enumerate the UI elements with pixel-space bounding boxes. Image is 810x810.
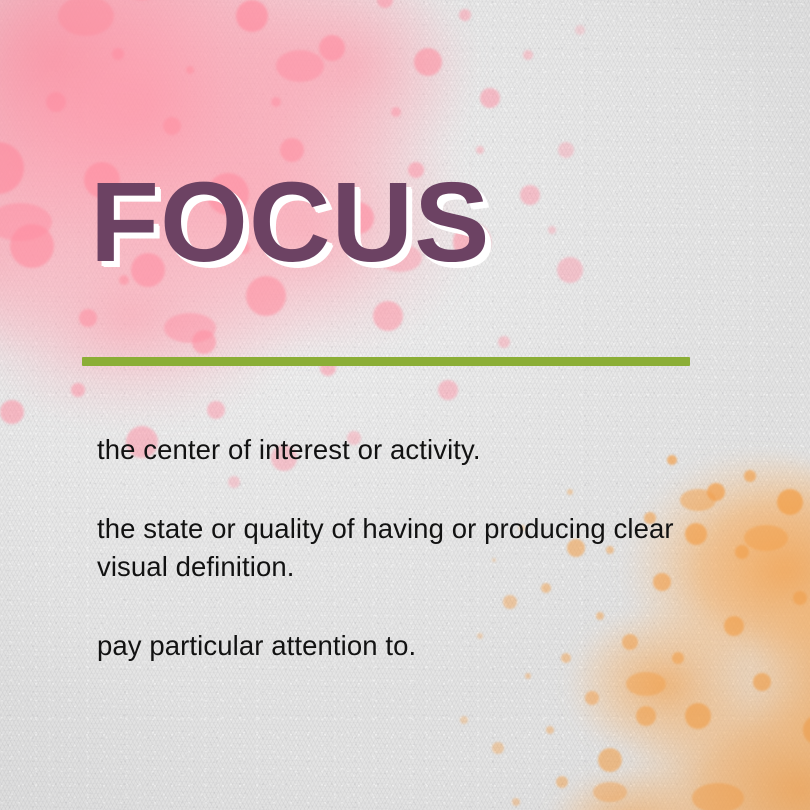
background-vignette bbox=[0, 0, 810, 810]
poster-canvas: FOCUS the center of interest or activity… bbox=[0, 0, 810, 810]
definition-item-1: the center of interest or activity. bbox=[97, 431, 717, 469]
definition-item-3: pay particular attention to. bbox=[97, 627, 717, 665]
page-title: FOCUS bbox=[90, 166, 491, 279]
green-divider-rule bbox=[82, 357, 690, 366]
definition-item-2: the state or quality of having or produc… bbox=[97, 510, 717, 586]
definitions-list: the center of interest or activity. the … bbox=[97, 431, 717, 665]
